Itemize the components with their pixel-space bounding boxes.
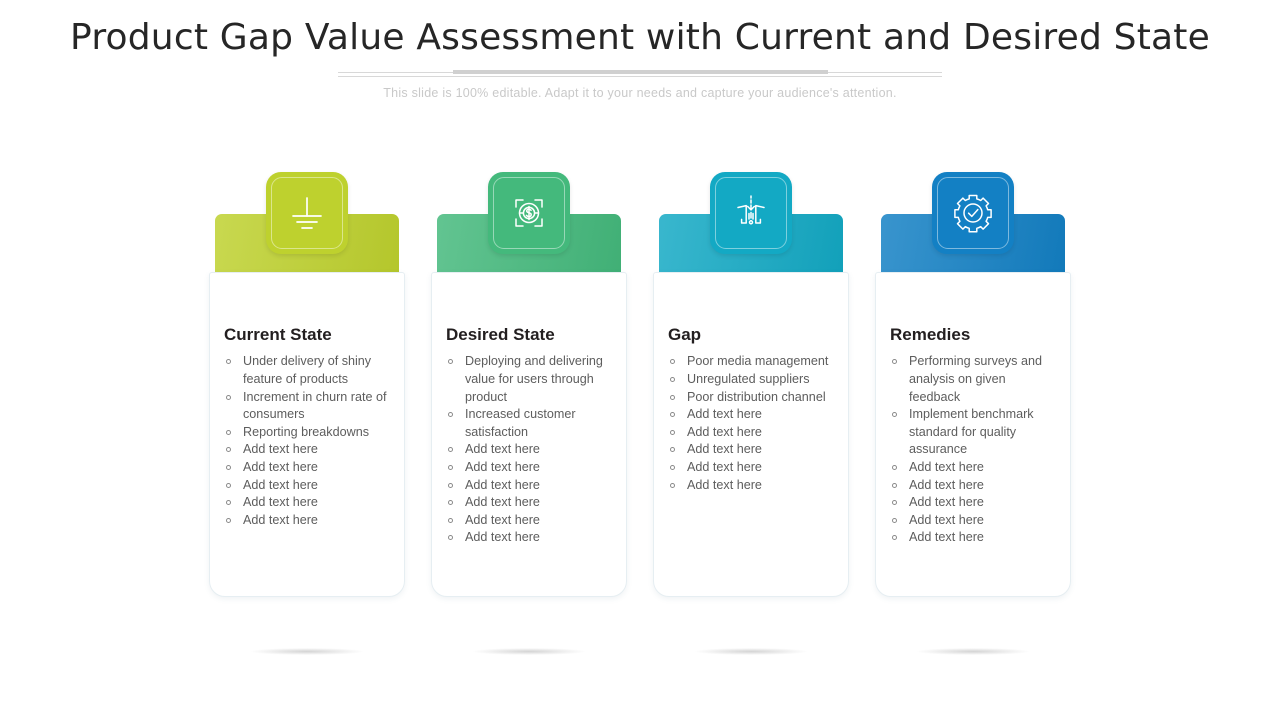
bullet-circle-icon	[448, 447, 453, 452]
bullet-circle-icon	[226, 483, 231, 488]
list-item: Add text here	[446, 529, 612, 547]
list-item-label: Poor media management	[687, 354, 828, 368]
gear-check-icon	[932, 172, 1014, 254]
bullet-circle-icon	[892, 483, 897, 488]
card-body: Current State Under delivery of shiny fe…	[209, 272, 405, 597]
bullet-circle-icon	[892, 500, 897, 505]
list-item: Add text here	[668, 406, 834, 424]
list-item: Add text here	[446, 459, 612, 477]
list-item: Implement benchmark standard for quality…	[890, 406, 1056, 459]
card-desired-state[interactable]: Desired State Deploying and delivering v…	[431, 172, 627, 597]
card-title: Remedies	[890, 325, 1056, 345]
canyon-gap-icon	[710, 172, 792, 254]
card-title: Desired State	[446, 325, 612, 345]
list-item: Increment in churn rate of consumers	[224, 389, 390, 424]
list-item: Performing surveys and analysis on given…	[890, 353, 1056, 406]
list-item-label: Add text here	[909, 495, 984, 509]
bullet-circle-icon	[448, 412, 453, 417]
card-shadow	[209, 648, 405, 657]
list-item: Add text here	[668, 477, 834, 495]
list-item-label: Add text here	[909, 460, 984, 474]
bullet-circle-icon	[892, 465, 897, 470]
card-title: Gap	[668, 325, 834, 345]
bullet-circle-icon	[670, 447, 675, 452]
list-item: Reporting breakdowns	[224, 424, 390, 442]
list-item: Under delivery of shiny feature of produ…	[224, 353, 390, 388]
card-shadow	[875, 648, 1071, 657]
list-item-label: Add text here	[909, 513, 984, 527]
list-item: Add text here	[224, 512, 390, 530]
card-shadows-row	[0, 648, 1280, 657]
card-body: Desired State Deploying and delivering v…	[431, 272, 627, 597]
bullet-circle-icon	[448, 535, 453, 540]
list-item-label: Add text here	[687, 442, 762, 456]
list-item-label: Add text here	[909, 478, 984, 492]
bullet-circle-icon	[892, 535, 897, 540]
list-item: Unregulated suppliers	[668, 371, 834, 389]
list-item: Poor media management	[668, 353, 834, 371]
list-item: Add text here	[446, 441, 612, 459]
card-body: Remedies Performing surveys and analysis…	[875, 272, 1071, 597]
bullet-circle-icon	[448, 500, 453, 505]
list-item-label: Add text here	[465, 495, 540, 509]
bullet-circle-icon	[226, 359, 231, 364]
bullet-circle-icon	[226, 395, 231, 400]
bullet-circle-icon	[670, 359, 675, 364]
list-item-label: Implement benchmark standard for quality…	[909, 407, 1034, 456]
bullet-circle-icon	[226, 430, 231, 435]
list-item: Add text here	[890, 512, 1056, 530]
list-item: Add text here	[446, 494, 612, 512]
list-item-label: Add text here	[243, 460, 318, 474]
list-item-label: Add text here	[909, 530, 984, 544]
list-item: Increased customer satisfaction	[446, 406, 612, 441]
card-bullet-list: Poor media management Unregulated suppli…	[668, 353, 834, 494]
list-item-label: Add text here	[243, 442, 318, 456]
bullet-circle-icon	[448, 359, 453, 364]
list-item: Add text here	[890, 529, 1056, 547]
bullet-circle-icon	[670, 377, 675, 382]
bullet-circle-icon	[226, 447, 231, 452]
divider-accent-bar	[453, 70, 828, 74]
list-item-label: Add text here	[243, 495, 318, 509]
list-item: Add text here	[224, 459, 390, 477]
list-item-label: Add text here	[465, 460, 540, 474]
list-item-label: Add text here	[243, 513, 318, 527]
bullet-circle-icon	[670, 483, 675, 488]
bullet-circle-icon	[670, 465, 675, 470]
bullet-circle-icon	[448, 518, 453, 523]
list-item: Add text here	[224, 441, 390, 459]
list-item-label: Add text here	[465, 530, 540, 544]
bullet-circle-icon	[226, 518, 231, 523]
slide-header: Product Gap Value Assessment with Curren…	[0, 0, 1280, 100]
bullet-circle-icon	[448, 465, 453, 470]
bullet-circle-icon	[670, 430, 675, 435]
bullet-circle-icon	[226, 465, 231, 470]
list-item: Add text here	[668, 441, 834, 459]
list-item: Add text here	[890, 494, 1056, 512]
list-item: Add text here	[446, 512, 612, 530]
list-item-label: Add text here	[243, 478, 318, 492]
list-item: Poor distribution channel	[668, 389, 834, 407]
list-item-label: Add text here	[465, 478, 540, 492]
list-item: Add text here	[668, 424, 834, 442]
card-bullet-list: Deploying and delivering value for users…	[446, 353, 612, 547]
bullet-circle-icon	[448, 483, 453, 488]
grounding-symbol-icon	[266, 172, 348, 254]
card-gap[interactable]: Gap Poor media management Unregulated su…	[653, 172, 849, 597]
list-item: Add text here	[890, 459, 1056, 477]
card-shadow	[653, 648, 849, 657]
bullet-circle-icon	[226, 500, 231, 505]
card-remedies[interactable]: Remedies Performing surveys and analysis…	[875, 172, 1071, 597]
list-item: Add text here	[224, 477, 390, 495]
bullet-circle-icon	[670, 395, 675, 400]
list-item-label: Deploying and delivering value for users…	[465, 354, 603, 403]
card-title: Current State	[224, 325, 390, 345]
cards-row: Current State Under delivery of shiny fe…	[0, 172, 1280, 597]
list-item: Add text here	[446, 477, 612, 495]
card-current-state[interactable]: Current State Under delivery of shiny fe…	[209, 172, 405, 597]
list-item-label: Reporting breakdowns	[243, 425, 369, 439]
list-item-label: Poor distribution channel	[687, 390, 826, 404]
list-item-label: Unregulated suppliers	[687, 372, 810, 386]
list-item: Add text here	[668, 459, 834, 477]
dollar-target-icon	[488, 172, 570, 254]
bullet-circle-icon	[670, 412, 675, 417]
list-item-label: Add text here	[687, 407, 762, 421]
list-item: Deploying and delivering value for users…	[446, 353, 612, 406]
list-item-label: Increment in churn rate of consumers	[243, 390, 387, 422]
list-item-label: Increased customer satisfaction	[465, 407, 576, 439]
list-item-label: Add text here	[687, 425, 762, 439]
list-item-label: Performing surveys and analysis on given…	[909, 354, 1042, 403]
list-item-label: Add text here	[687, 460, 762, 474]
card-shadow	[431, 648, 627, 657]
list-item-label: Under delivery of shiny feature of produ…	[243, 354, 371, 386]
card-body: Gap Poor media management Unregulated su…	[653, 272, 849, 597]
slide-subtitle: This slide is 100% editable. Adapt it to…	[0, 86, 1280, 100]
bullet-circle-icon	[892, 518, 897, 523]
card-bullet-list: Performing surveys and analysis on given…	[890, 353, 1056, 547]
list-item-label: Add text here	[687, 478, 762, 492]
title-divider	[338, 68, 942, 77]
list-item: Add text here	[224, 494, 390, 512]
bullet-circle-icon	[892, 359, 897, 364]
divider-line-bottom	[338, 76, 942, 77]
bullet-circle-icon	[892, 412, 897, 417]
page-title: Product Gap Value Assessment with Curren…	[0, 18, 1280, 58]
card-bullet-list: Under delivery of shiny feature of produ…	[224, 353, 390, 529]
list-item-label: Add text here	[465, 513, 540, 527]
list-item: Add text here	[890, 477, 1056, 495]
list-item-label: Add text here	[465, 442, 540, 456]
